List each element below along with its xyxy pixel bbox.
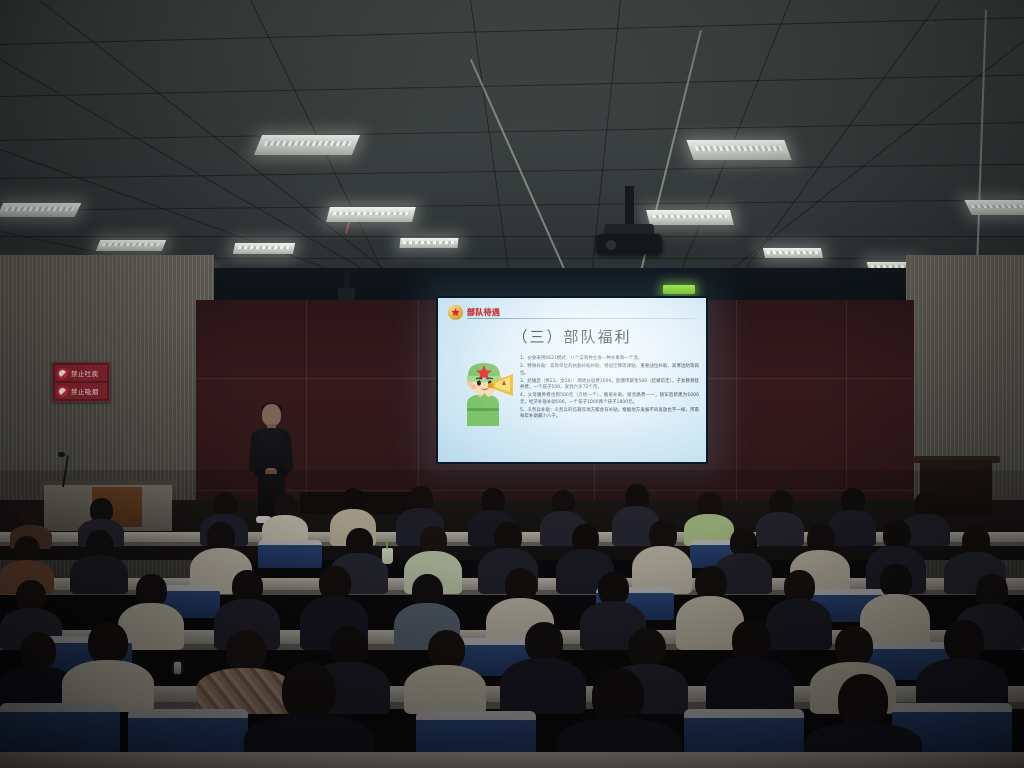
head xyxy=(505,568,537,602)
no-smoking-icon xyxy=(57,386,68,397)
head xyxy=(88,622,128,664)
green-indicator-light xyxy=(663,285,695,294)
header-divider xyxy=(467,318,696,319)
no-smoking-sign: 禁止吸烟 xyxy=(55,383,107,399)
head xyxy=(835,626,873,666)
presenter-head xyxy=(262,404,281,426)
cartoon-soldier-with-megaphone-icon xyxy=(455,352,517,426)
audience-member xyxy=(706,620,794,712)
shoulders xyxy=(706,657,794,714)
sign-label: 禁止吐痰 xyxy=(71,368,99,378)
warning-signs: 禁止吐痰 禁止吸烟 xyxy=(52,362,110,402)
head xyxy=(592,668,644,724)
ceiling xyxy=(0,0,1024,292)
slide-body-line: 2、特殊补助：高原单位的执勤补助补助、特战空降等津贴、重要战位补助、高寒边防等岗… xyxy=(520,364,699,377)
ceiling-light xyxy=(763,248,823,258)
head xyxy=(695,566,727,600)
head xyxy=(976,574,1008,608)
head xyxy=(880,564,912,598)
red-star-emblem-icon: ★ xyxy=(448,305,463,320)
audience-seating xyxy=(0,470,1024,768)
audience-member-on-phone xyxy=(62,622,154,710)
seat-back-top xyxy=(684,709,804,718)
slide-header-label: 部队待遇 xyxy=(467,307,500,318)
slide-body-line: 3、结婚后（男22、女20）：两地分居费1000，配偶带薪金500（结婚前无），… xyxy=(520,379,699,392)
ceiling-light xyxy=(399,238,458,248)
ceiling-light xyxy=(964,200,1024,215)
head xyxy=(525,622,563,662)
lecture-hall-photo: 禁止吐痰 禁止吸烟 ★ 部队待遇 （三）部队福利 xyxy=(0,0,1024,768)
audience-member xyxy=(916,620,1008,712)
projector-lens xyxy=(606,240,616,250)
slide-header: ★ 部队待遇 xyxy=(448,305,696,321)
seat-back-top xyxy=(128,709,248,718)
smartphone xyxy=(174,662,181,674)
head xyxy=(20,632,56,670)
no-spitting-icon xyxy=(57,368,68,379)
seat-back-top xyxy=(0,703,120,712)
ceiling-light xyxy=(326,207,416,222)
ceiling-light xyxy=(96,240,166,251)
ceiling-light xyxy=(646,210,734,225)
drink-cup xyxy=(382,548,393,564)
projector-mount-pole xyxy=(625,186,634,228)
audience-member xyxy=(262,494,308,546)
shoulders xyxy=(404,665,486,714)
head xyxy=(428,630,465,669)
ceiling-light xyxy=(686,140,791,160)
head xyxy=(628,628,666,668)
no-spitting-sign: 禁止吐痰 xyxy=(55,365,107,381)
presentation-slide: ★ 部队待遇 （三）部队福利 xyxy=(438,298,706,462)
slide-body-line: 4、父母赡养费也到500元（只给一个）、搬家补助、探亲路费一一，随军后新建为10… xyxy=(520,393,699,406)
hanging-speaker xyxy=(338,288,355,301)
head xyxy=(319,566,351,600)
seat-back-top xyxy=(416,711,536,720)
slide-title: （三）部队福利 xyxy=(438,326,706,347)
head xyxy=(838,674,888,728)
head xyxy=(732,620,771,661)
slide-body-line: 1、伙食采用6621模式：八个菜两种主食一种水果和一个汤。 xyxy=(520,356,699,363)
head xyxy=(944,620,984,662)
slide-body-text: 1、伙食采用6621模式：八个菜两种主食一种水果和一个汤。 2、特殊补助：高原单… xyxy=(520,356,699,422)
ceiling-light xyxy=(233,243,295,254)
audience-member xyxy=(404,630,486,712)
drink-straw xyxy=(386,540,388,549)
star-glyph: ★ xyxy=(451,307,461,318)
seat-back xyxy=(258,542,322,568)
seat-back xyxy=(0,708,120,752)
microphone-icon xyxy=(58,452,65,457)
slide-body-line: 5、义务兵补贴：义务兵的信箱年地方都会有补贴，根据地方发展不同发放也不一样，河南… xyxy=(520,408,699,421)
seat-back-top xyxy=(258,540,322,545)
desk-row-front xyxy=(0,752,1024,768)
sign-label: 禁止吸烟 xyxy=(71,386,99,396)
ceiling-light xyxy=(0,203,81,217)
head xyxy=(330,626,368,666)
ceiling-light xyxy=(254,135,360,155)
head xyxy=(282,662,336,720)
